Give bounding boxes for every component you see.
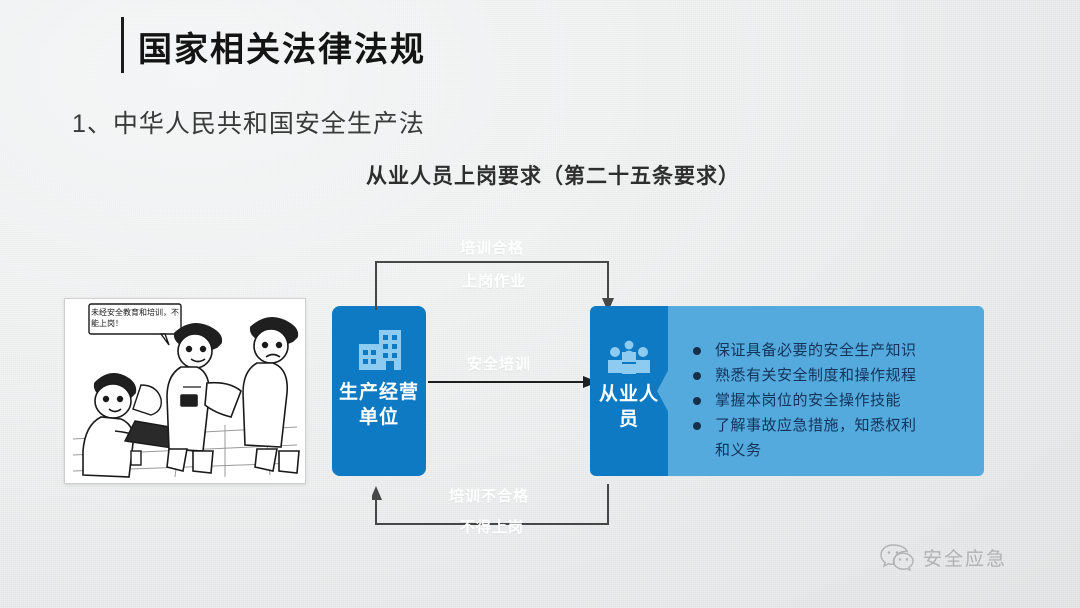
page-title: 国家相关法律法规: [138, 22, 426, 71]
list-item: 保证具备必要的安全生产知识: [691, 338, 917, 363]
staff-requirements-panel: 保证具备必要的安全生产知识 熟悉有关安全制度和操作规程 掌握本岗位的安全操作技能…: [655, 306, 984, 476]
section-item-law: 1、中华人民共和国安全生产法: [72, 104, 425, 140]
connector-label-training-fail: 培训不合格: [449, 485, 529, 506]
sub-heading: 从业人员上岗要求（第二十五条要求）: [366, 160, 740, 190]
list-item: 熟悉有关安全制度和操作规程: [691, 363, 917, 388]
connector-label-start-work: 上岗作业: [462, 270, 526, 291]
people-group-icon: [606, 340, 652, 374]
list-item: 了解事故应急措施，知悉权利 和义务: [691, 413, 917, 463]
building-icon: [355, 328, 403, 372]
watermark-text: 安全应急: [923, 544, 1007, 571]
wechat-icon: [880, 543, 914, 571]
safety-training-cartoon: 未经安全教育和培训，不能上岗！: [64, 298, 306, 484]
flow-node-company: 生产经营单位: [332, 306, 426, 476]
slide-canvas: 国家相关法律法规 1、中华人民共和国安全生产法 从业人员上岗要求（第二十五条要求…: [0, 0, 1080, 608]
title-accent-bar: [121, 17, 124, 73]
flow-node-company-label: 生产经营单位: [332, 380, 426, 430]
cartoon-speech-bubble-text: 未经安全教育和培训，不能上岗！: [91, 307, 179, 329]
list-item: 掌握本岗位的安全操作技能: [691, 388, 917, 413]
flow-node-staff-label: 从业人员: [590, 382, 668, 432]
flow-node-staff: 从业人员: [590, 306, 668, 476]
connector-label-no-work: 不得上岗: [460, 516, 524, 537]
connector-label-training-pass: 培训合格: [460, 237, 524, 258]
staff-requirements-list: 保证具备必要的安全生产知识 熟悉有关安全制度和操作规程 掌握本岗位的安全操作技能…: [691, 338, 917, 463]
connector-training-arrow: [428, 374, 600, 390]
connector-label-safety-training: 安全培训: [467, 353, 531, 374]
watermark: 安全应急: [880, 543, 1007, 571]
